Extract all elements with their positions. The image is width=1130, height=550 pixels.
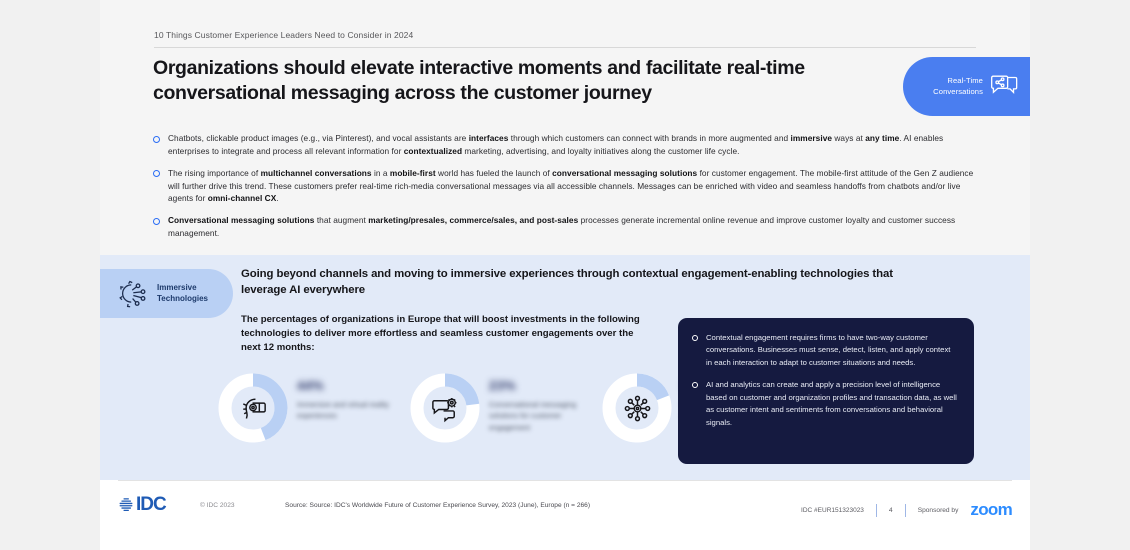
immersive-badge-line-2: Technologies [157,294,208,304]
hub-network-icon [602,373,672,443]
badge-line-2: Conversations [933,87,983,97]
bullet-text: The rising importance of multichannel co… [168,167,975,206]
insight-text: AI and analytics can create and apply a … [706,379,958,429]
document-id: IDC #EUR151323023 [801,507,864,514]
bullet-marker-icon [153,170,160,177]
sponsor-label: Sponsored by [918,507,959,514]
donut-chart [602,373,672,443]
copyright-text: © IDC 2023 [200,502,235,509]
donut-percent: 23% [489,379,581,393]
footer-divider-2 [905,504,906,517]
gear-network-icon [118,279,149,308]
donut-chart [218,373,288,443]
section-heading: Going beyond channels and moving to imme… [241,267,901,298]
vr-headset-icon [218,373,288,443]
idc-wordmark: IDC [136,494,166,516]
insight-item: AI and analytics can create and apply a … [692,379,958,429]
slide-canvas: 10 Things Customer Experience Leaders Ne… [100,0,1030,550]
donut-label: 44% Immersive and virtual reality experi… [297,373,389,422]
bullet-text: Conversational messaging solutions that … [168,214,975,240]
bullet-marker-icon [692,382,698,388]
bullet-item: Chatbots, clickable product images (e.g.… [153,132,975,158]
insight-text: Contextual engagement requires firms to … [706,332,958,369]
eyebrow-text: 10 Things Customer Experience Leaders Ne… [154,30,413,40]
insights-panel: Contextual engagement requires firms to … [678,318,974,464]
header-divider [154,47,976,48]
page-title: Organizations should elevate interactive… [153,56,893,105]
footer-divider [118,480,1012,481]
idc-globe-icon [118,497,134,513]
chat-share-icon [990,74,1018,100]
badge-label: Real-Time Conversations [933,76,983,97]
zoom-logo: zoom [970,500,1012,520]
immersive-badge-label: Immersive Technologies [157,283,208,304]
donut-label: 23% Conversational messaging solutions f… [489,373,581,433]
donut-description: Immersive and virtual reality experience… [297,399,389,421]
donut-chart [410,373,480,443]
donut-chart-item: 23% Conversational messaging solutions f… [410,373,581,443]
bullet-marker-icon [692,335,698,341]
source-text: Source: Source: IDC's Worldwide Future o… [285,502,590,509]
badge-line-1: Real-Time [933,76,983,86]
footer-right-group: IDC #EUR151323023 4 Sponsored by zoom [801,500,1012,520]
immersive-technologies-badge: Immersive Technologies [100,269,233,318]
real-time-conversations-badge: Real-Time Conversations [903,57,1030,116]
chat-gear-icon [410,373,480,443]
section-subheading: The percentages of organizations in Euro… [241,313,641,355]
idc-logo: IDC [118,494,166,516]
donut-description: Conversational messaging solutions for c… [489,399,581,432]
immersive-technologies-section: Immersive Technologies Going beyond chan… [100,255,1030,480]
donut-percent: 44% [297,379,389,393]
bullet-text: Chatbots, clickable product images (e.g.… [168,132,975,158]
page-number: 4 [889,507,893,514]
bullet-marker-icon [153,136,160,143]
immersive-badge-line-1: Immersive [157,283,208,293]
bullet-marker-icon [153,218,160,225]
bullet-item: The rising importance of multichannel co… [153,167,975,206]
insight-item: Contextual engagement requires firms to … [692,332,958,369]
donut-chart-item: 44% Immersive and virtual reality experi… [218,373,389,443]
footer-divider-1 [876,504,877,517]
footer: IDC © IDC 2023 Source: Source: IDC's Wor… [100,480,1030,550]
bullet-item: Conversational messaging solutions that … [153,214,975,240]
bullet-list: Chatbots, clickable product images (e.g.… [153,132,975,249]
